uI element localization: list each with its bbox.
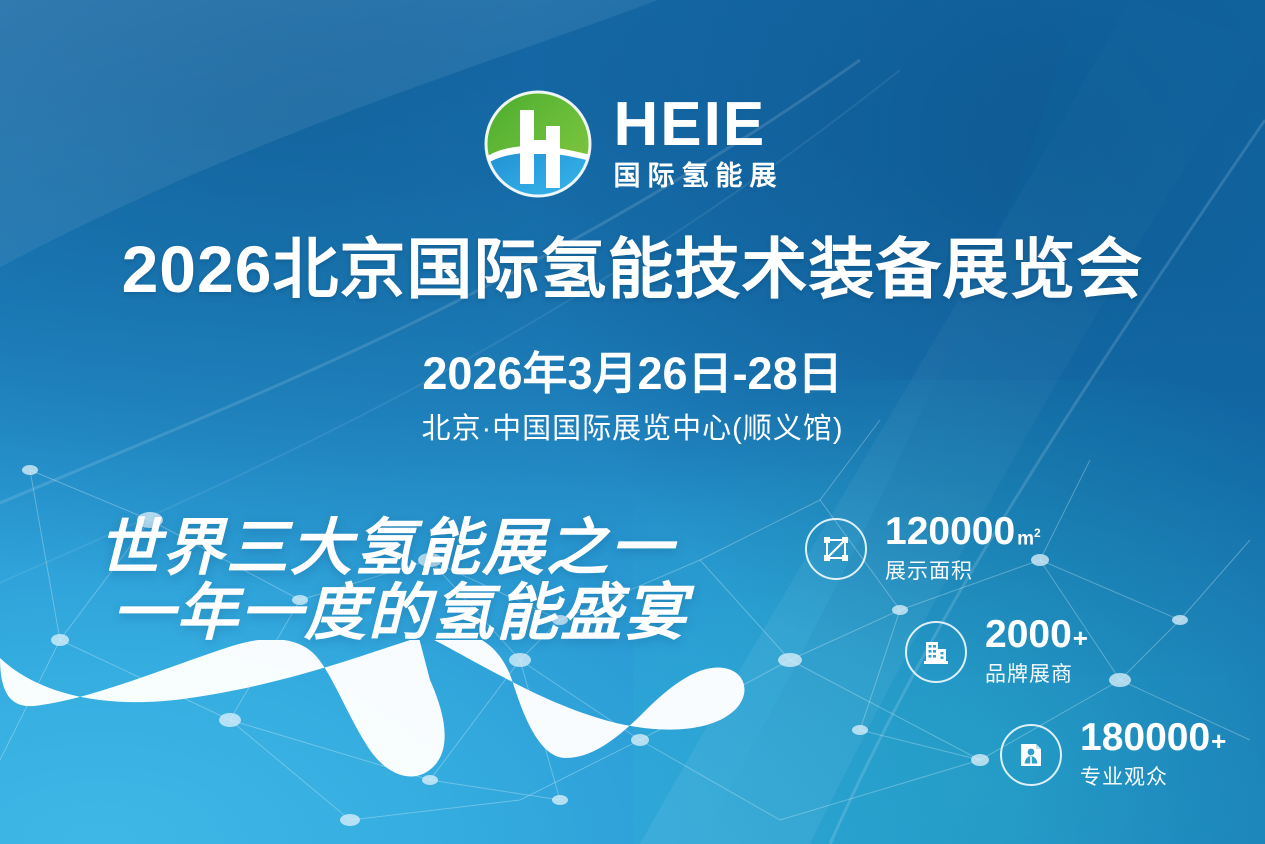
event-slogan: 世界三大氢能展之一 一年一度的氢能盛宴 [98,516,688,646]
event-poster: HEIE 国际氢能展 2026北京国际氢能技术装备展览会 2026年3月26日-… [0,0,1265,844]
building-icon [905,621,967,683]
heie-circular-logo-icon [482,88,594,200]
stats-group: 120000 m2 展示面积 [795,512,1265,791]
stat-value-row: 120000 m2 [885,512,1041,551]
stat-value: 180000 [1080,718,1210,757]
stat-unit-superscript: 2 [1034,526,1041,540]
slogan-ribbon-flourish [0,640,760,840]
event-title: 2026北京国际氢能技术装备展览会 [0,236,1265,302]
visitor-badge-icon [1000,724,1062,786]
stat-unit: m2 [1017,527,1041,548]
event-venue: 北京·中国国际展览中心(顺义馆) [0,412,1265,447]
stat-item-professional-visitors: 180000 + 专业观众 [1000,718,1265,791]
stat-value: 2000 [985,615,1072,654]
stat-value-row: 2000 + [985,615,1088,654]
stat-item-exhibition-area: 120000 m2 展示面积 [805,512,1265,585]
stat-value-row: 180000 + [1080,718,1226,757]
logo-subtitle: 国际氢能展 [614,161,784,192]
stat-value: 120000 [885,512,1015,551]
stat-label: 品牌展商 [985,658,1088,688]
stat-label: 展示面积 [885,555,1041,585]
area-frame-icon [805,518,867,580]
stat-item-brand-exhibitors: 2000 + 品牌展商 [905,615,1265,688]
stat-plus: + [1211,728,1226,754]
stat-label: 专业观众 [1080,761,1226,791]
stat-plus: + [1073,625,1088,651]
logo-lockup: HEIE 国际氢能展 [0,88,1265,200]
slogan-line-2: 一年一度的氢能盛宴 [98,581,688,646]
slogan-line-1: 世界三大氢能展之一 [98,514,674,583]
event-date: 2026年3月26日-28日 [0,350,1265,397]
logo-wordmark: HEIE [614,96,767,155]
